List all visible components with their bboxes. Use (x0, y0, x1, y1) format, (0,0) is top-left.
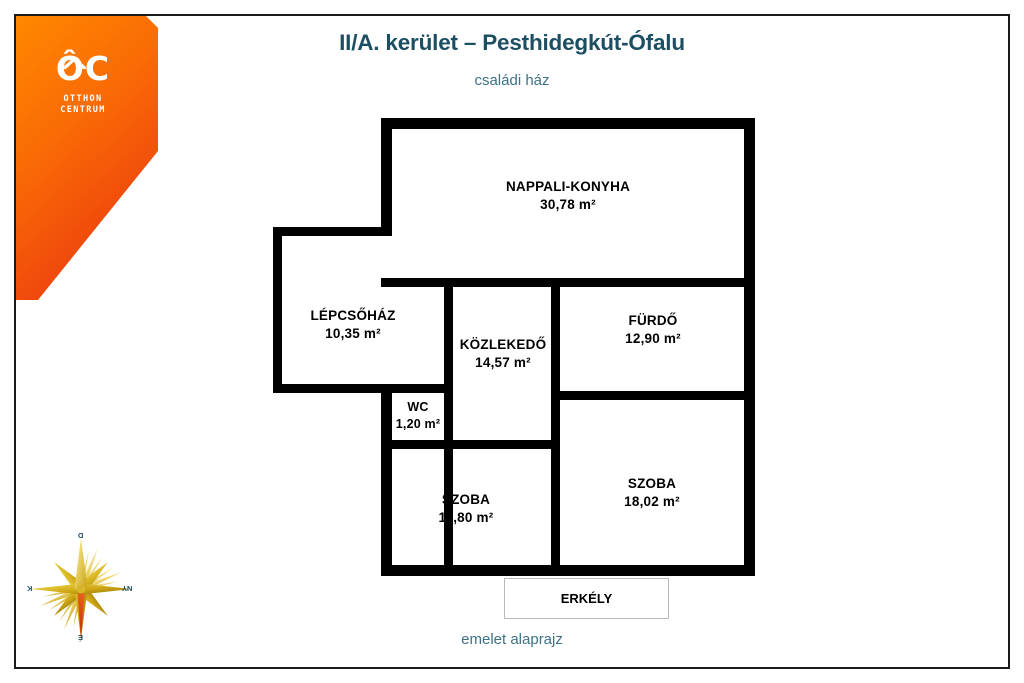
room-label-szoba-2: SZOBA 18,02 m² (552, 475, 752, 511)
room-name: LÉPCSŐHÁZ (253, 307, 453, 325)
wall-interior-bath-bottom (551, 391, 755, 400)
room-balcony: ERKÉLY (504, 578, 669, 619)
wall-interior-bedroom-top (381, 440, 560, 449)
room-area: 14,57 m² (403, 354, 603, 372)
wall-exterior-bottom (381, 565, 755, 576)
room-label-nappali-konyha: NAPPALI-KONYHA 30,78 m² (428, 178, 708, 214)
room-name: WC (368, 399, 468, 416)
compass-label-north: É (78, 633, 83, 642)
room-area: 11,80 m² (376, 509, 556, 527)
compass-rose: D É K NY (25, 532, 137, 646)
room-name: SZOBA (376, 491, 556, 509)
compass-label-south: D (78, 531, 83, 540)
room-area: 12,90 m² (553, 330, 753, 348)
wall-interior-living-bottom (381, 278, 755, 287)
room-label-szoba-1: SZOBA 11,80 m² (376, 491, 556, 527)
wall-exterior-top (381, 118, 755, 129)
wall-exterior-left-upper (381, 118, 392, 228)
room-name: NAPPALI-KONYHA (428, 178, 708, 196)
room-area: 18,02 m² (552, 493, 752, 511)
wall-wc-top (388, 384, 448, 393)
compass-label-east: K (27, 584, 32, 593)
compass-label-west: NY (122, 584, 132, 593)
room-label-wc: WC 1,20 m² (368, 399, 468, 433)
floorplan-drawing: NAPPALI-KONYHA 30,78 m² LÉPCSŐHÁZ 10,35 … (0, 0, 1024, 683)
room-name: SZOBA (552, 475, 752, 493)
floorplan-page: ÔC OTTHON CENTRUM II/A. kerület – Pesthi… (0, 0, 1024, 683)
room-label-furdo: FÜRDŐ 12,90 m² (553, 312, 753, 348)
room-area: 1,20 m² (368, 416, 468, 433)
room-name: ERKÉLY (561, 591, 613, 606)
wall-stairwell-top (273, 227, 392, 236)
room-name: FÜRDŐ (553, 312, 753, 330)
room-area: 30,78 m² (428, 196, 708, 214)
wall-stairwell-bottom (273, 384, 392, 393)
